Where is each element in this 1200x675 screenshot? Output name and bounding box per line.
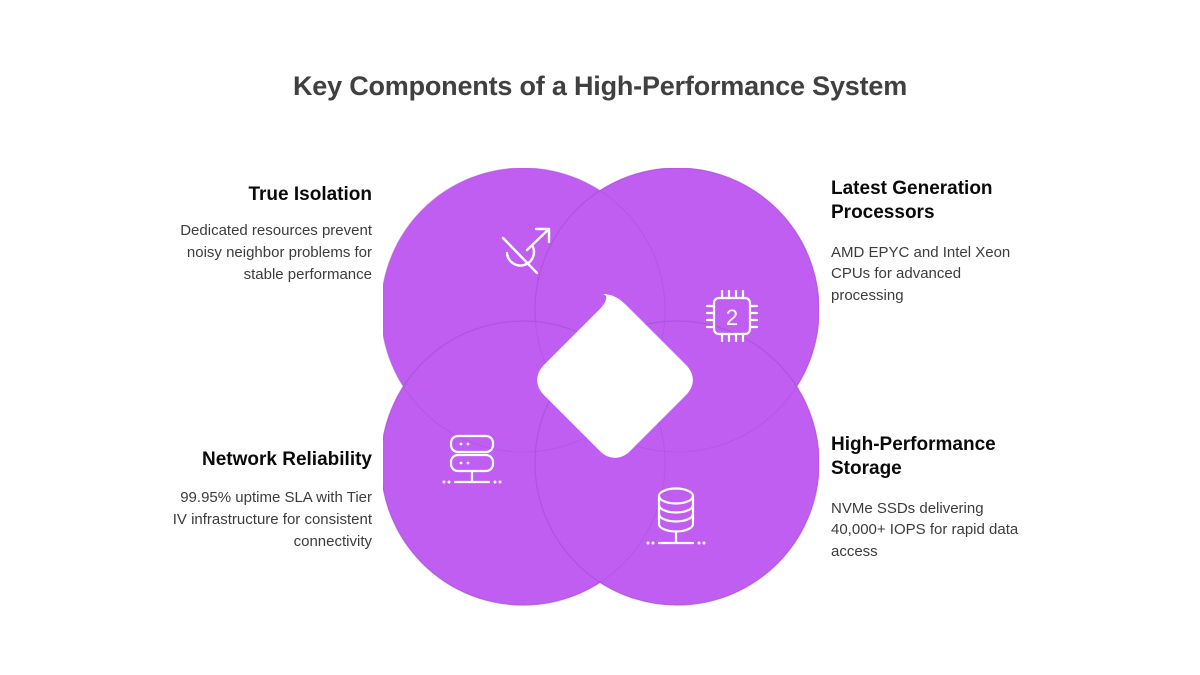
- component-latest-generation-processors: Latest Generation Processors AMD EPYC an…: [831, 177, 1031, 307]
- component-true-isolation: True Isolation Dedicated resources preve…: [168, 183, 372, 286]
- interlocking-circles-diagram: [383, 168, 819, 606]
- component-heading-true-isolation: True Isolation: [168, 183, 372, 207]
- slide-canvas: Key Components of a High-Performance Sys…: [0, 0, 1200, 675]
- component-heading-high-performance-storage: High-Performance Storage: [831, 433, 1023, 482]
- component-heading-latest-generation-processors: Latest Generation Processors: [831, 177, 1031, 226]
- circles-svg: [383, 168, 819, 606]
- component-body-high-performance-storage: NVMe SSDs delivering 40,000+ IOPS for ra…: [831, 498, 1023, 563]
- component-body-latest-generation-processors: AMD EPYC and Intel Xeon CPUs for advance…: [831, 242, 1031, 307]
- component-body-network-reliability: 99.95% uptime SLA with Tier IV infrastru…: [168, 487, 372, 552]
- component-heading-network-reliability: Network Reliability: [168, 448, 372, 472]
- page-title: Key Components of a High-Performance Sys…: [0, 70, 1200, 102]
- component-body-true-isolation: Dedicated resources prevent noisy neighb…: [168, 220, 372, 285]
- component-high-performance-storage: High-Performance Storage NVMe SSDs deliv…: [831, 433, 1023, 563]
- component-network-reliability: Network Reliability 99.95% uptime SLA wi…: [168, 448, 372, 553]
